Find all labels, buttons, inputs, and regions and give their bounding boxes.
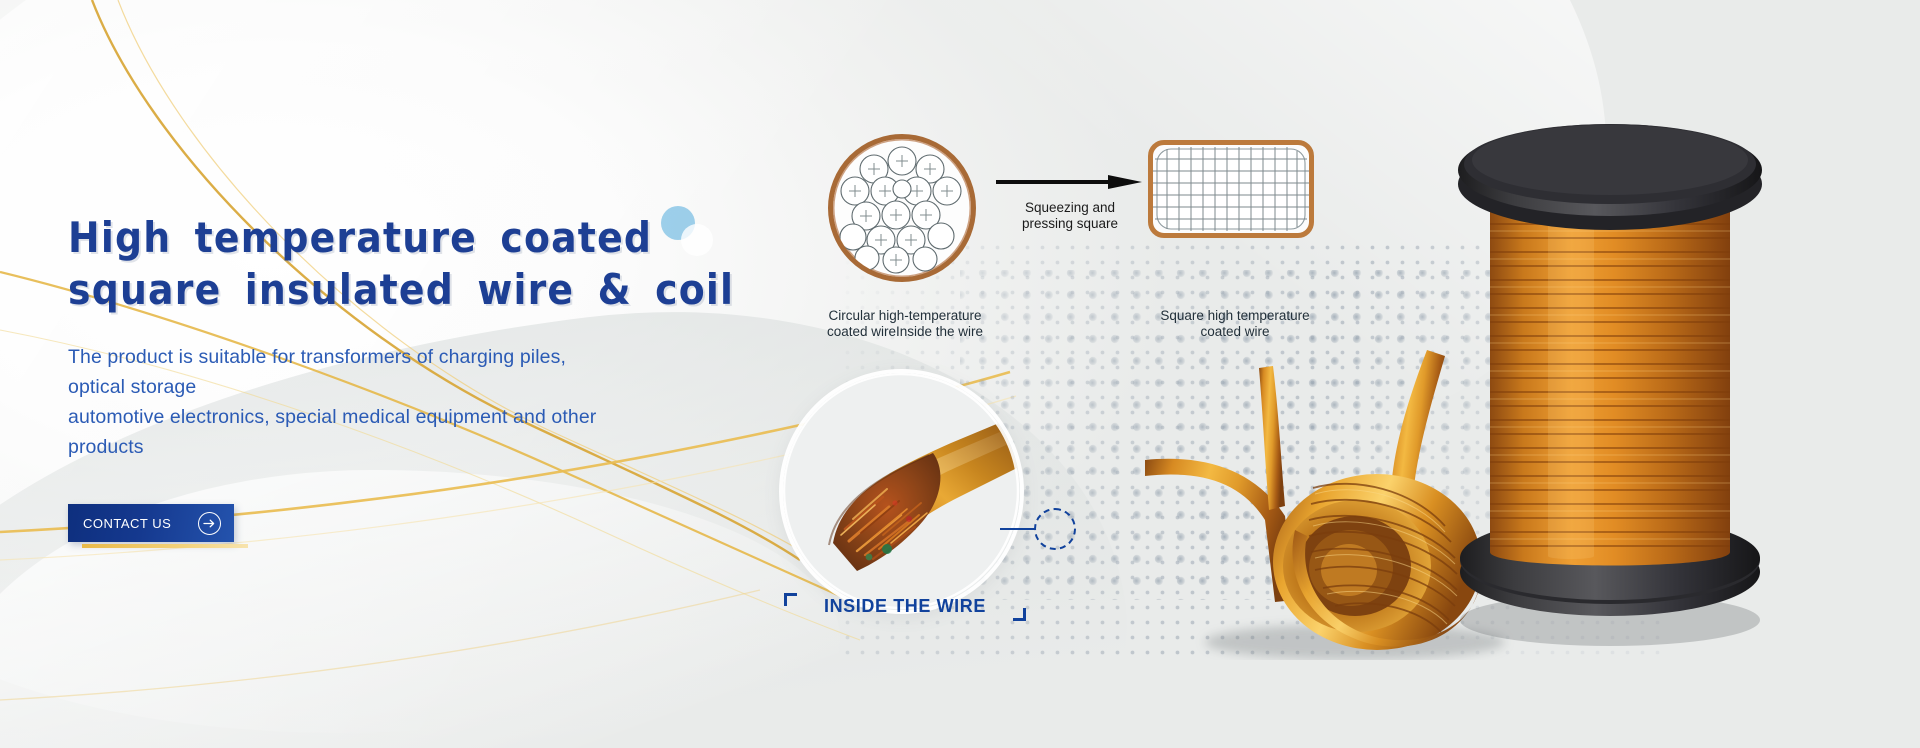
wire-end-highlight-circle (1034, 508, 1076, 550)
bracket-left-icon (784, 593, 797, 606)
square-wire-caption-line-1: Square high temperature (1160, 308, 1309, 323)
process-step-label: Squeezing and pressing square (990, 200, 1150, 232)
circular-wire-caption-line-2: coated wireInside the wire (827, 324, 983, 339)
inside-the-wire-label: INSIDE THE WIRE (800, 596, 1010, 617)
square-wire-cross-section-icon (1148, 140, 1314, 238)
circular-wire-cross-section-icon (828, 134, 976, 282)
subtitle-line-1: The product is suitable for transformers… (68, 346, 566, 398)
copper-wire-spool-photo (1452, 60, 1772, 660)
hero-subtitle: The product is suitable for transformers… (68, 342, 628, 462)
bracket-right-icon (1013, 608, 1026, 621)
process-diagram: Squeezing and pressing square Circular h… (800, 120, 1420, 340)
button-gold-underline (82, 544, 248, 548)
contact-us-button[interactable]: CONTACT US (68, 504, 234, 542)
subtitle-line-2: automotive electronics, special medical … (68, 406, 596, 458)
headline-line-1: High temperature coated (68, 212, 768, 264)
inset-connector-line (1000, 528, 1036, 530)
product-banner: High temperature coated square insulated… (0, 0, 1920, 748)
process-label-line-1: Squeezing and (1025, 200, 1115, 215)
circular-wire-caption: Circular high-temperature coated wireIns… (660, 308, 1150, 340)
process-label-line-2: pressing square (1022, 216, 1118, 231)
wire-macro-photo-inset (783, 373, 1020, 610)
contact-us-label: CONTACT US (83, 516, 171, 531)
circular-wire-caption-line-1: Circular high-temperature (828, 308, 981, 323)
hero-text-block: High temperature coated square insulated… (68, 212, 768, 542)
inside-the-wire-text: INSIDE THE WIRE (824, 596, 986, 616)
arrow-right-circle-icon (198, 512, 221, 535)
arrow-right-icon (996, 172, 1142, 192)
page-title: High temperature coated square insulated… (68, 212, 768, 316)
